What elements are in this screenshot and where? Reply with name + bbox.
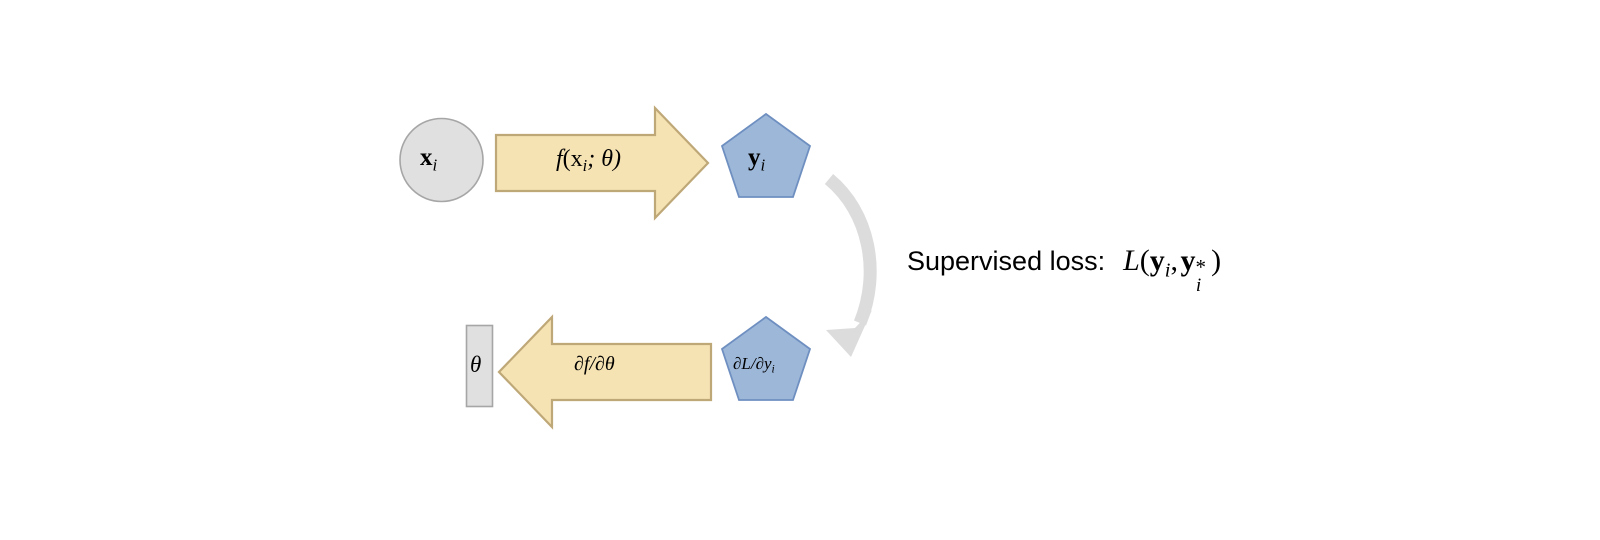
- loss-y-first: y: [1150, 244, 1165, 277]
- input-node-subscript: i: [433, 155, 438, 174]
- loss-paren-close: ): [1211, 244, 1221, 277]
- backward-arrow-label: ∂f/∂θ: [574, 354, 615, 374]
- forward-arrow-label: f(xi; θ): [556, 147, 621, 175]
- gradient-node-symbol: ∂L/∂y: [733, 354, 772, 373]
- input-node-circle: [400, 119, 483, 202]
- loss-symbol-L: L: [1123, 244, 1140, 277]
- loss-comma: ,: [1170, 244, 1178, 277]
- loss-paren-open: (: [1140, 244, 1150, 277]
- forward-arrow-function: f: [556, 146, 563, 172]
- input-node-label: xi: [420, 145, 437, 173]
- supervised-loss-caption: Supervised loss: L(yi, y*i): [907, 246, 1221, 281]
- supervised-loss-prefix: Supervised loss:: [907, 248, 1105, 275]
- gradient-node-subscript: i: [772, 363, 775, 376]
- output-node-symbol: y: [748, 144, 761, 171]
- forward-arrow-open: (x: [563, 146, 583, 172]
- output-node-pentagon: [722, 114, 810, 197]
- loss-curved-arrow: [826, 179, 872, 357]
- forward-arrow-tail: ; θ): [587, 146, 621, 172]
- loss-y-second-subscript: i: [1196, 276, 1201, 295]
- output-node-label: yi: [748, 145, 765, 173]
- gradient-node-label: ∂L/∂yi: [733, 355, 775, 375]
- parameter-node-label: θ: [470, 353, 481, 376]
- loss-y-second: y: [1180, 244, 1195, 277]
- diagram-canvas: xi yi θ ∂L/∂yi f(xi; θ) ∂f/∂θ Supervised…: [0, 0, 1600, 540]
- output-node-subscript: i: [761, 155, 766, 174]
- input-node-symbol: x: [420, 144, 433, 171]
- supervised-loss-formula: L(yi, y*i): [1123, 246, 1221, 281]
- diagram-graphics: [0, 0, 1600, 540]
